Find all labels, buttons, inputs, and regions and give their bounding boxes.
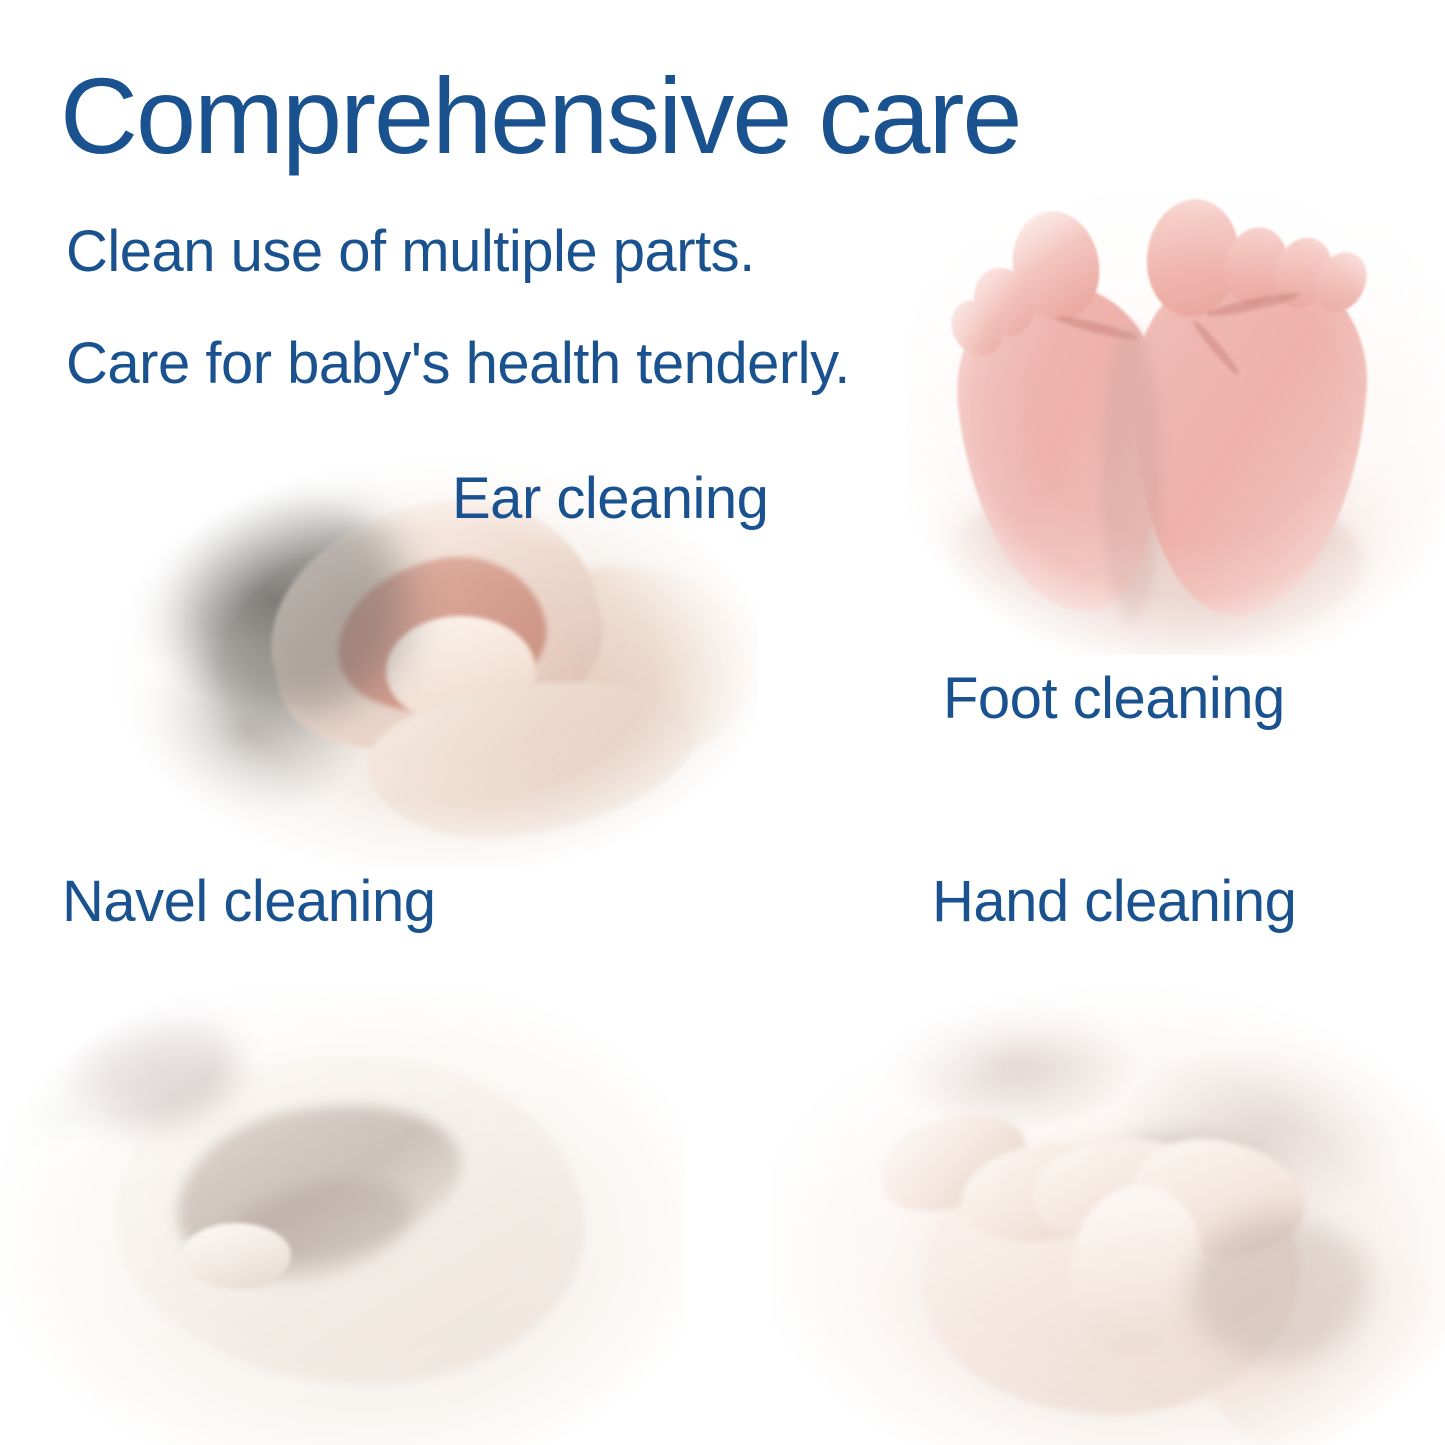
subtitle-line-2: Care for baby's health tenderly. [66,330,850,397]
baby-hand-photo [770,985,1445,1445]
label-hand-cleaning: Hand cleaning [932,868,1296,935]
page-title: Comprehensive care [60,62,1020,170]
product-feature-poster: Comprehensive care Clean use of multiple… [0,0,1445,1445]
label-navel-cleaning: Navel cleaning [62,868,435,935]
label-foot-cleaning: Foot cleaning [943,665,1285,732]
label-ear-cleaning: Ear cleaning [452,465,768,532]
baby-navel-photo [0,985,685,1445]
navel-upper-shade [55,1005,235,1125]
hand-lower-shadow [1190,1215,1370,1365]
baby-feet-photo [905,175,1445,655]
ear-hair-shadow [178,488,408,718]
navel-knot [181,1223,291,1289]
feet-gap-shadow [1101,325,1161,625]
subtitle-line-1: Clean use of multiple parts. [66,218,755,285]
